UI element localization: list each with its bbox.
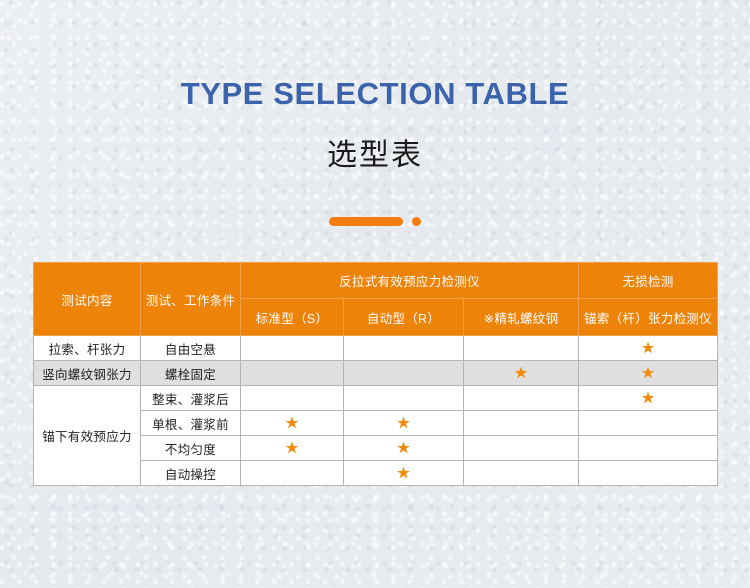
- cell-mark-empty: [464, 386, 579, 411]
- cell-test-condition: 自动操控: [141, 461, 241, 486]
- cell-mark-empty: [579, 436, 718, 461]
- cell-mark-empty: [579, 461, 718, 486]
- cell-mark-empty: [579, 411, 718, 436]
- divider-dot-icon: [412, 217, 421, 226]
- table-body: 拉索、杆张力自由空悬竖向螺纹钢张力螺栓固定锚下有效预应力整束、灌浆后单根、灌浆前…: [34, 336, 718, 486]
- page-root: TYPE SELECTION TABLE 选型表 测试内容 测试、工作条件 反拉…: [0, 0, 750, 588]
- cell-mark-star: [579, 361, 718, 386]
- star-icon: [515, 367, 528, 380]
- cell-test-condition: 螺栓固定: [141, 361, 241, 386]
- cell-mark-star: [464, 361, 579, 386]
- cell-test-condition: 单根、灌浆前: [141, 411, 241, 436]
- selection-table-container: 测试内容 测试、工作条件 反拉式有效预应力检测仪 无损检测 标准型（S） 自动型…: [33, 262, 717, 486]
- header-sub-cable: 锚索（杆）张力检测仪: [579, 299, 718, 336]
- cell-mark-empty: [344, 336, 464, 361]
- table-header-row-group: 测试内容 测试、工作条件 反拉式有效预应力检测仪 无损检测: [34, 263, 718, 299]
- cell-mark-star: [344, 411, 464, 436]
- cell-mark-empty: [464, 411, 579, 436]
- header-test-condition: 测试、工作条件: [141, 263, 241, 336]
- page-title-english: TYPE SELECTION TABLE: [0, 74, 750, 114]
- cell-test-content: 竖向螺纹钢张力: [34, 361, 141, 386]
- star-icon: [642, 367, 655, 380]
- star-icon: [286, 442, 299, 455]
- decorative-divider: [0, 217, 750, 226]
- cell-mark-star: [241, 411, 344, 436]
- table-row: 拉索、杆张力自由空悬: [34, 336, 718, 361]
- cell-mark-star: [344, 461, 464, 486]
- header-sub-standard: 标准型（S）: [241, 299, 344, 336]
- cell-mark-star: [344, 436, 464, 461]
- cell-mark-empty: [241, 361, 344, 386]
- cell-mark-empty: [464, 436, 579, 461]
- header-group-pullback: 反拉式有效预应力检测仪: [241, 263, 579, 299]
- cell-mark-empty: [464, 461, 579, 486]
- cell-test-content: 拉索、杆张力: [34, 336, 141, 361]
- cell-mark-empty: [344, 361, 464, 386]
- cell-mark-empty: [241, 386, 344, 411]
- star-icon: [642, 392, 655, 405]
- header-test-content: 测试内容: [34, 263, 141, 336]
- star-icon: [397, 467, 410, 480]
- heading-block: TYPE SELECTION TABLE 选型表: [0, 74, 750, 176]
- cell-mark-star: [579, 386, 718, 411]
- table-row: 竖向螺纹钢张力螺栓固定: [34, 361, 718, 386]
- star-icon: [397, 417, 410, 430]
- divider-bar-icon: [329, 217, 403, 226]
- star-icon: [642, 342, 655, 355]
- page-title-chinese: 选型表: [0, 136, 750, 176]
- cell-mark-empty: [344, 386, 464, 411]
- selection-table: 测试内容 测试、工作条件 反拉式有效预应力检测仪 无损检测 标准型（S） 自动型…: [33, 262, 718, 486]
- cell-mark-empty: [241, 336, 344, 361]
- star-icon: [286, 417, 299, 430]
- cell-test-condition: 整束、灌浆后: [141, 386, 241, 411]
- cell-mark-star: [241, 436, 344, 461]
- header-sub-rebar: ※精轧螺纹钢: [464, 299, 579, 336]
- cell-test-content: 锚下有效预应力: [34, 386, 141, 486]
- table-row: 锚下有效预应力整束、灌浆后: [34, 386, 718, 411]
- cell-test-condition: 不均匀度: [141, 436, 241, 461]
- cell-mark-empty: [464, 336, 579, 361]
- header-sub-auto: 自动型（R）: [344, 299, 464, 336]
- cell-test-condition: 自由空悬: [141, 336, 241, 361]
- table-header: 测试内容 测试、工作条件 反拉式有效预应力检测仪 无损检测 标准型（S） 自动型…: [34, 263, 718, 336]
- star-icon: [397, 442, 410, 455]
- header-group-nondestructive: 无损检测: [579, 263, 718, 299]
- cell-mark-star: [579, 336, 718, 361]
- cell-mark-empty: [241, 461, 344, 486]
